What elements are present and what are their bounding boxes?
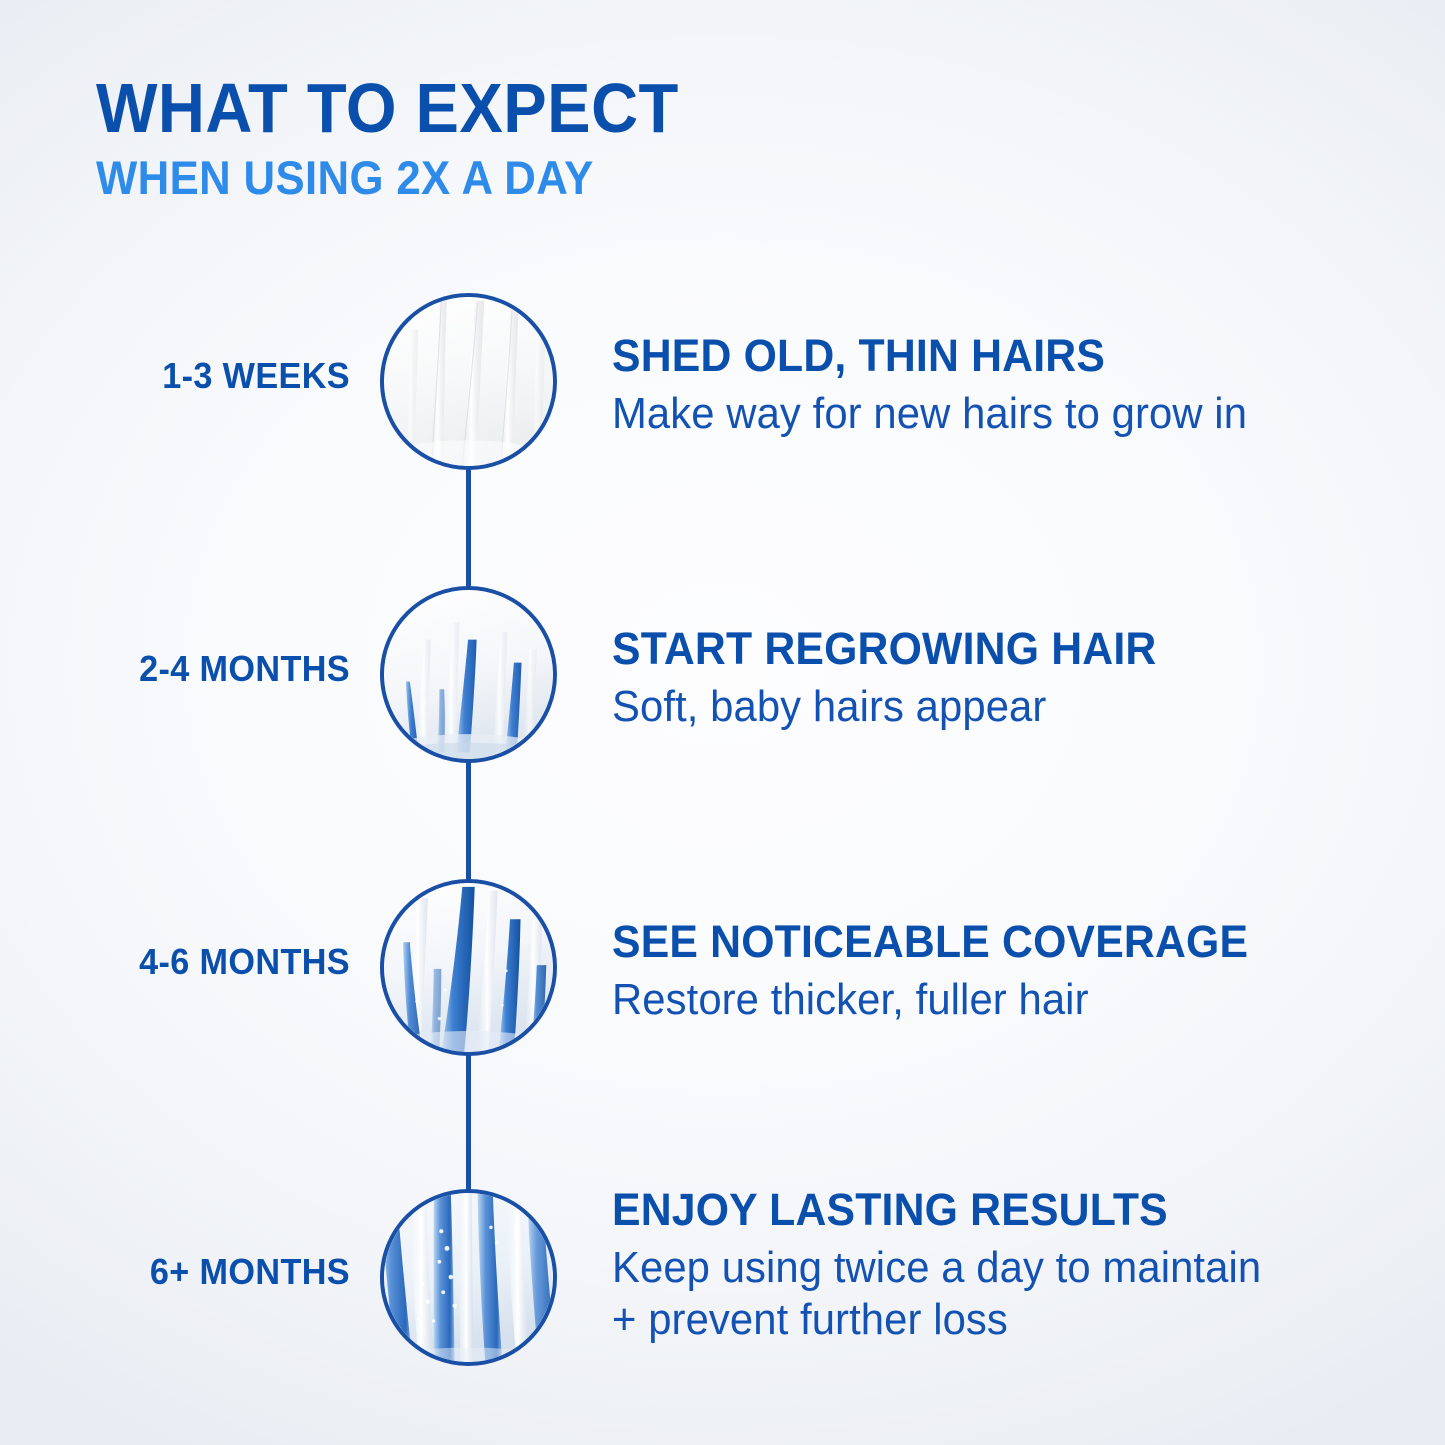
timeline-step: 2-4 MONTHS <box>0 586 1445 772</box>
step-heading: START REGROWING HAIR <box>612 626 1334 672</box>
step-heading: SHED OLD, THIN HAIRS <box>612 333 1334 379</box>
step-copy: ENJOY LASTING RESULTS Keep using twice a… <box>612 1187 1372 1346</box>
step-description-line: Restore thicker, fuller hair <box>612 974 1334 1026</box>
scalp-closeup-sparse-blue-hairs-icon <box>384 590 553 759</box>
step-image-circle <box>380 586 557 763</box>
step-copy: SEE NOTICEABLE COVERAGE Restore thicker,… <box>612 919 1372 1026</box>
step-description-line: + prevent further loss <box>612 1294 1334 1346</box>
step-image-circle <box>380 293 557 470</box>
timeline-spine <box>466 386 471 1288</box>
scalp-closeup-pale-thin-hairs-icon <box>384 297 553 466</box>
step-time-label: 4-6 MONTHS <box>18 941 351 983</box>
timeline-step: 6+ MONTHS <box>0 1179 1445 1365</box>
step-description-line: Make way for new hairs to grow in <box>612 388 1334 440</box>
page-subtitle: WHEN USING 2X A DAY <box>96 154 933 201</box>
step-description-line: Keep using twice a day to maintain <box>612 1242 1334 1294</box>
scalp-closeup-thicker-blue-hairs-icon <box>384 883 553 1052</box>
step-heading: SEE NOTICEABLE COVERAGE <box>612 919 1334 965</box>
step-time-label: 2-4 MONTHS <box>18 648 351 690</box>
page-title: WHAT TO EXPECT <box>96 74 933 143</box>
step-copy: SHED OLD, THIN HAIRS Make way for new ha… <box>612 333 1372 440</box>
title-block: WHAT TO EXPECT WHEN USING 2X A DAY <box>96 74 996 201</box>
step-time-label: 6+ MONTHS <box>18 1251 351 1293</box>
timeline-step: 1-3 WEEKS <box>0 293 1445 479</box>
step-image-circle <box>380 879 557 1056</box>
step-image-circle <box>380 1189 557 1366</box>
step-description: Make way for new hairs to grow in <box>612 388 1334 440</box>
scalp-closeup-dense-blue-hairs-icon <box>384 1193 553 1362</box>
step-copy: START REGROWING HAIR Soft, baby hairs ap… <box>612 626 1372 733</box>
timeline-step: 4-6 MONTHS <box>0 879 1445 1065</box>
step-description: Restore thicker, fuller hair <box>612 974 1334 1026</box>
infographic-poster: WHAT TO EXPECT WHEN USING 2X A DAY 1-3 W… <box>0 0 1445 1445</box>
step-description: Keep using twice a day to maintain + pre… <box>612 1242 1334 1346</box>
step-description-line: Soft, baby hairs appear <box>612 681 1334 733</box>
step-description: Soft, baby hairs appear <box>612 681 1334 733</box>
step-heading: ENJOY LASTING RESULTS <box>612 1187 1334 1233</box>
step-time-label: 1-3 WEEKS <box>18 355 351 397</box>
